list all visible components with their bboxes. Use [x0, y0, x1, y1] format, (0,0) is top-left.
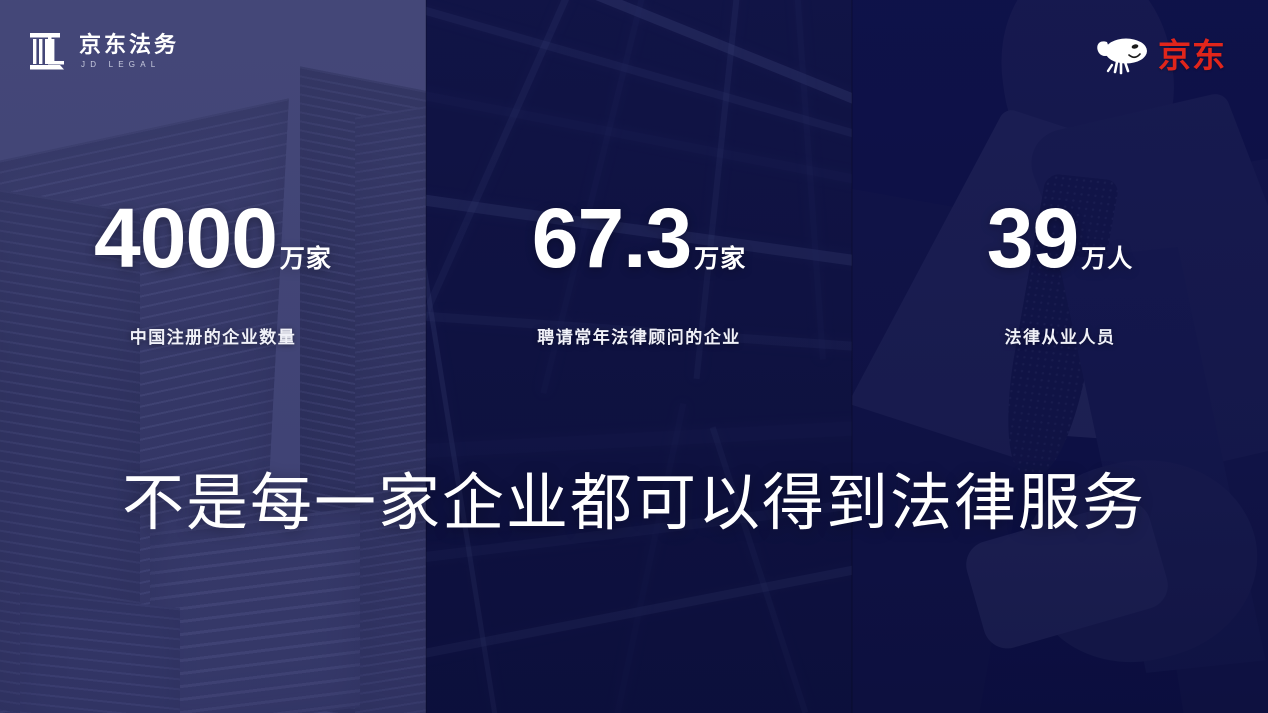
stat-unit: 万人: [1081, 247, 1133, 272]
stat-label: 法律从业人员: [1005, 323, 1116, 348]
stat-card-registered-enterprises: 4000 万家 中国注册的企业数量: [0, 196, 426, 348]
stat-label: 聘请常年法律顾问的企业: [537, 323, 741, 348]
statistics-row: 4000 万家 中国注册的企业数量 67.3 万家 聘请常年法律顾问的企业 39…: [0, 196, 1268, 348]
stat-card-enterprises-with-counsel: 67.3 万家 聘请常年法律顾问的企业: [426, 196, 852, 348]
brand-name-cn: 京东法务: [79, 34, 179, 56]
presentation-slide: 京东法务 JD LEGAL 京东 4000 万家: [0, 0, 1268, 713]
stat-card-legal-practitioners: 39 万人 法律从业人员: [852, 196, 1268, 348]
stat-number: 39: [987, 196, 1078, 280]
headline-text: 不是每一家企业都可以得到法律服务: [0, 470, 1268, 538]
stat-label: 中国注册的企业数量: [130, 323, 297, 348]
stat-value: 39 万人: [987, 196, 1133, 280]
stat-unit: 万家: [280, 247, 332, 272]
stat-value: 67.3 万家: [532, 196, 747, 280]
stat-number: 4000: [94, 196, 277, 280]
stat-number: 67.3: [532, 196, 692, 280]
brand-logo-jd[interactable]: 京东: [1095, 35, 1226, 75]
stat-unit: 万家: [694, 247, 746, 272]
brand-name-en: JD LEGAL: [81, 61, 179, 69]
jd-dog-mascot-icon: [1095, 35, 1151, 75]
brand-logo-jd-legal[interactable]: 京东法务 JD LEGAL: [24, 28, 179, 74]
pillar-column-icon: [24, 28, 70, 74]
stat-value: 4000 万家: [94, 196, 332, 280]
brand-name-jd: 京东: [1158, 39, 1226, 72]
